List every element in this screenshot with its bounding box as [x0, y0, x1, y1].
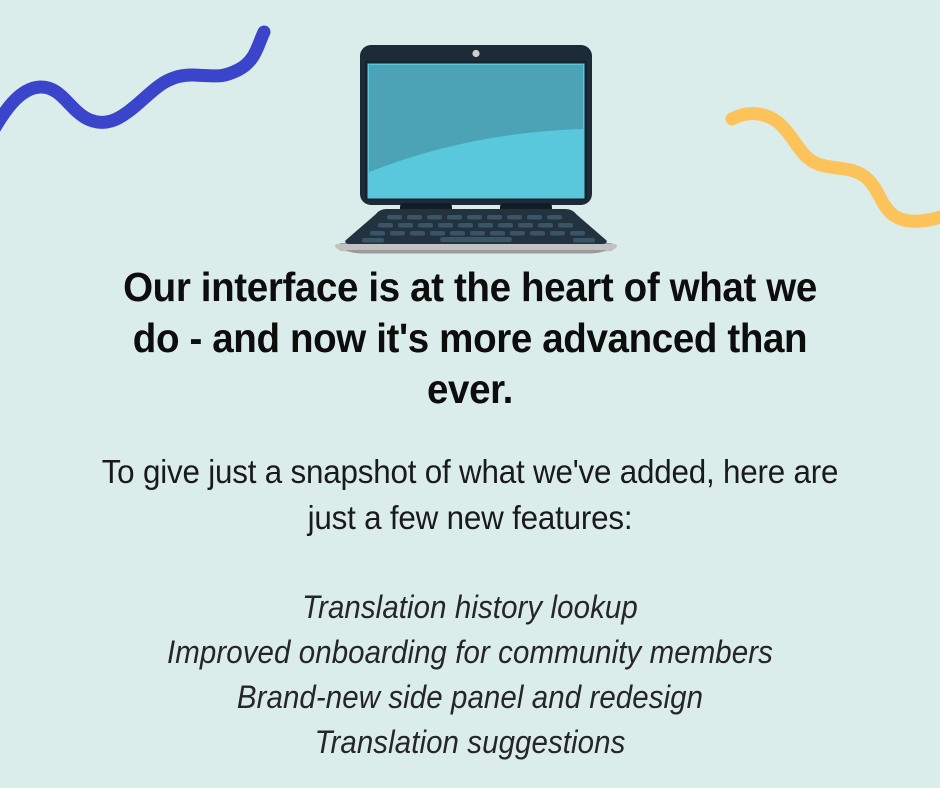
feature-list-item: Translation suggestions — [65, 720, 875, 765]
announcement-poster: Our interface is at the heart of what we… — [0, 0, 940, 788]
subheading: To give just a snapshot of what we've ad… — [90, 449, 850, 541]
feature-list-item: Translation history lookup — [65, 585, 875, 630]
blue-wave-squiggle — [0, 18, 284, 148]
text-block: Our interface is at the heart of what we… — [0, 262, 940, 765]
page-title: Our interface is at the heart of what we… — [99, 262, 842, 415]
laptop-screen — [369, 65, 583, 196]
feature-list-item: Brand-new side panel and redesign — [65, 675, 875, 720]
laptop-spacebar-key — [440, 237, 512, 242]
yellow-wave-squiggle — [722, 96, 940, 236]
laptop-illustration — [330, 40, 622, 255]
feature-list: Translation history lookup Improved onbo… — [30, 585, 910, 765]
feature-list-item: Improved onboarding for community member… — [65, 630, 875, 675]
laptop-webcam-icon — [472, 50, 479, 57]
laptop-base-underside — [346, 250, 606, 254]
